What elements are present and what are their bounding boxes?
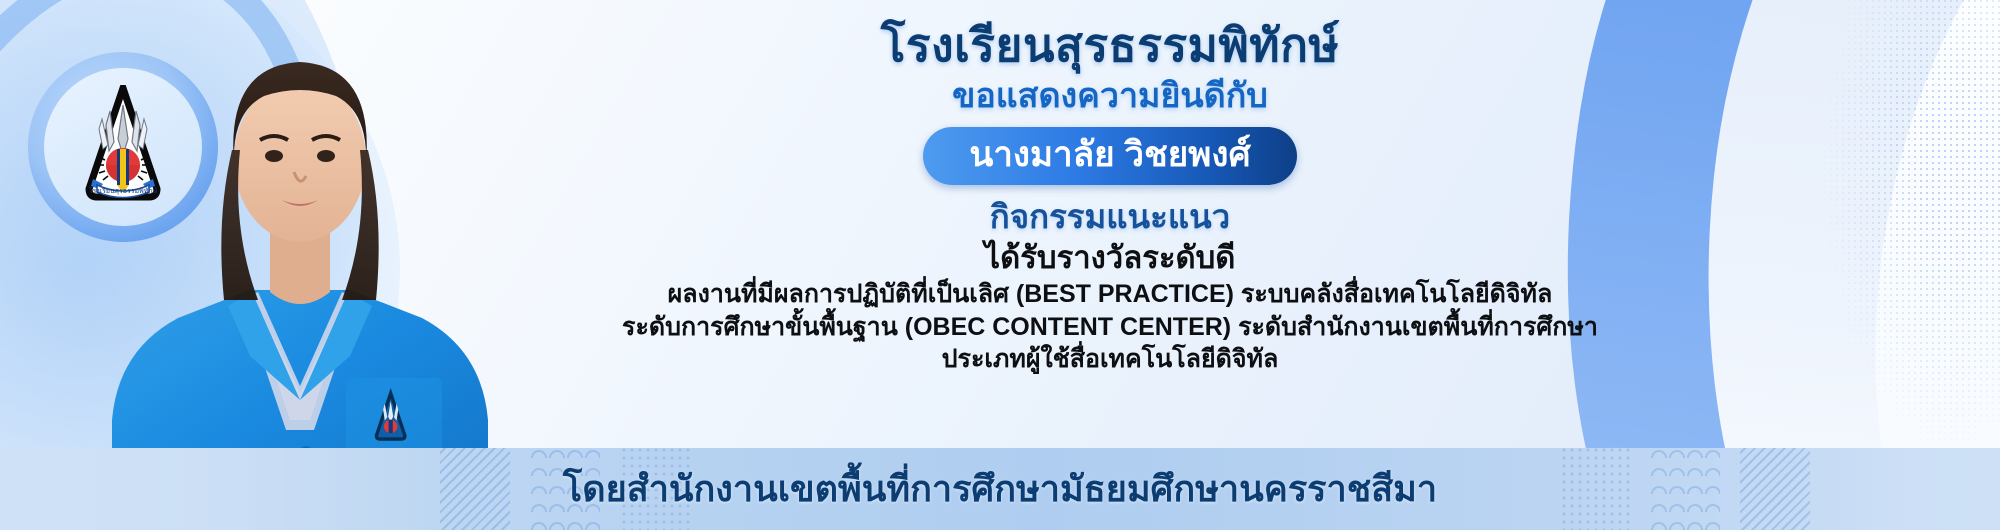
footer-organization-text: โดยสำนักงานเขตพื้นที่การศึกษามัธยมศึกษาน… bbox=[563, 467, 1437, 510]
honoree-name-badge: นางมาลัย วิชยพงศ์ bbox=[923, 127, 1296, 185]
award-level-text: ได้รับรางวัลระดับดี bbox=[985, 239, 1236, 277]
neck bbox=[270, 232, 330, 304]
footer-fade-right bbox=[1800, 448, 2000, 530]
footer-fade-left bbox=[0, 448, 440, 530]
footer-pattern-hatch-left bbox=[440, 448, 510, 530]
activity-label: กิจกรรมแนะแนว bbox=[990, 197, 1230, 237]
footer-pattern-arcs-right bbox=[1650, 448, 1720, 530]
footer-pattern-dots-right bbox=[1560, 448, 1630, 530]
award-detail-line-1: ผลงานที่มีผลการปฏิบัติที่เป็นเลิศ (BEST … bbox=[668, 278, 1553, 311]
award-detail-line-3: ประเภทผู้ใช้สื่อเทคโนโลยีดิจิทัล bbox=[942, 343, 1279, 376]
award-detail-line-2: ระดับการศึกษาขั้นพื้นฐาน (OBEC CONTENT C… bbox=[622, 311, 1598, 344]
school-name-heading: โรงเรียนสุรธรรมพิทักษ์ bbox=[881, 18, 1340, 72]
footer-band: โดยสำนักงานเขตพื้นที่การศึกษามัธยมศึกษาน… bbox=[0, 448, 2000, 530]
congratulation-line: ขอแสดงความยินดีกับ bbox=[952, 76, 1268, 117]
banner-content: โรงเรียนสุรธรรมพิทักษ์ ขอแสดงความยินดีกั… bbox=[460, 0, 1760, 470]
congratulation-banner: โรงเรียนสุรธรรมพิทักษ์ bbox=[0, 0, 2000, 530]
